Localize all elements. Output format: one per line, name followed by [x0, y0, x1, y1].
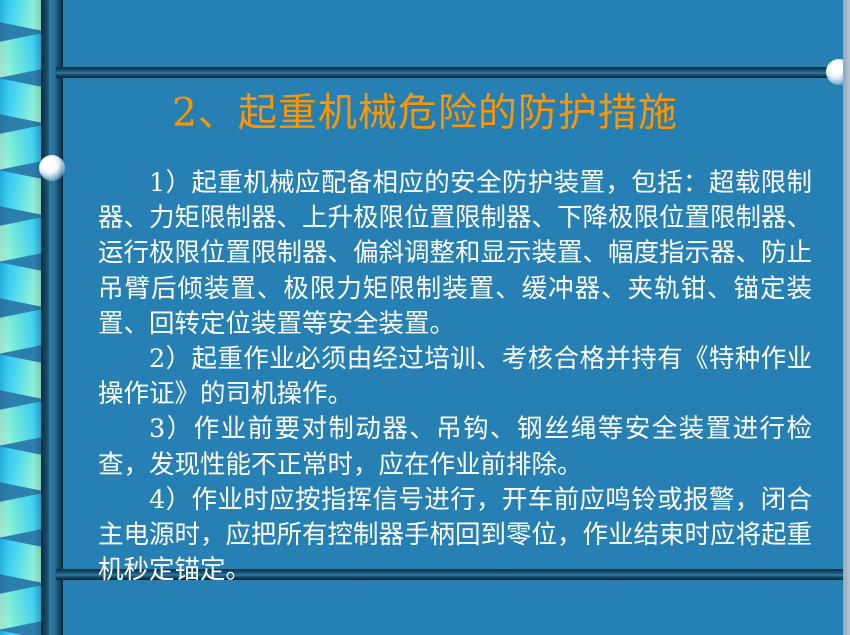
ribbon-segment — [0, 32, 46, 78]
ribbon-segment — [0, 446, 46, 492]
ribbon-segment — [0, 78, 46, 124]
top-divider-bar — [56, 67, 850, 78]
ribbon-segment — [0, 492, 46, 538]
ribbon-segment — [0, 216, 46, 262]
body-paragraph-3: 3）作业前要对制动器、吊钩、钢丝绳等安全装置进行检查，发现性能不正常时，应在作业… — [98, 412, 812, 482]
ribbon-segment — [0, 0, 46, 32]
ribbon-segment — [0, 354, 46, 400]
ribbon-segment — [0, 584, 46, 630]
body-paragraph-2: 2）起重作业必须由经过培训、考核合格并持有《特种作业操作证》的司机操作。 — [98, 342, 812, 412]
vertical-bar-highlight — [49, 0, 53, 635]
ribbon-segment — [0, 400, 46, 446]
right-edge-border — [843, 0, 850, 635]
zigzag-ribbon-decoration — [0, 0, 46, 635]
slide-body: 1）起重机械应配备相应的安全防护装置，包括：超载限制器、力矩限制器、上升极限位置… — [98, 166, 812, 588]
ribbon-segment — [0, 630, 46, 635]
sphere-knob-left-icon — [39, 155, 65, 181]
ribbon-segment — [0, 538, 46, 584]
slide-canvas: 2、起重机械危险的防护措施 1）起重机械应配备相应的安全防护装置，包括：超载限制… — [0, 0, 850, 635]
ribbon-segment — [0, 308, 46, 354]
slide-title: 2、起重机械危险的防护措施 — [120, 90, 730, 138]
body-paragraph-4: 4）作业时应按指挥信号进行，开车前应鸣铃或报警，闭合主电源时，应把所有控制器手柄… — [98, 483, 812, 589]
ribbon-segment — [0, 170, 46, 216]
body-paragraph-1: 1）起重机械应配备相应的安全防护装置，包括：超载限制器、力矩限制器、上升极限位置… — [98, 166, 812, 342]
ribbon-segment — [0, 262, 46, 308]
